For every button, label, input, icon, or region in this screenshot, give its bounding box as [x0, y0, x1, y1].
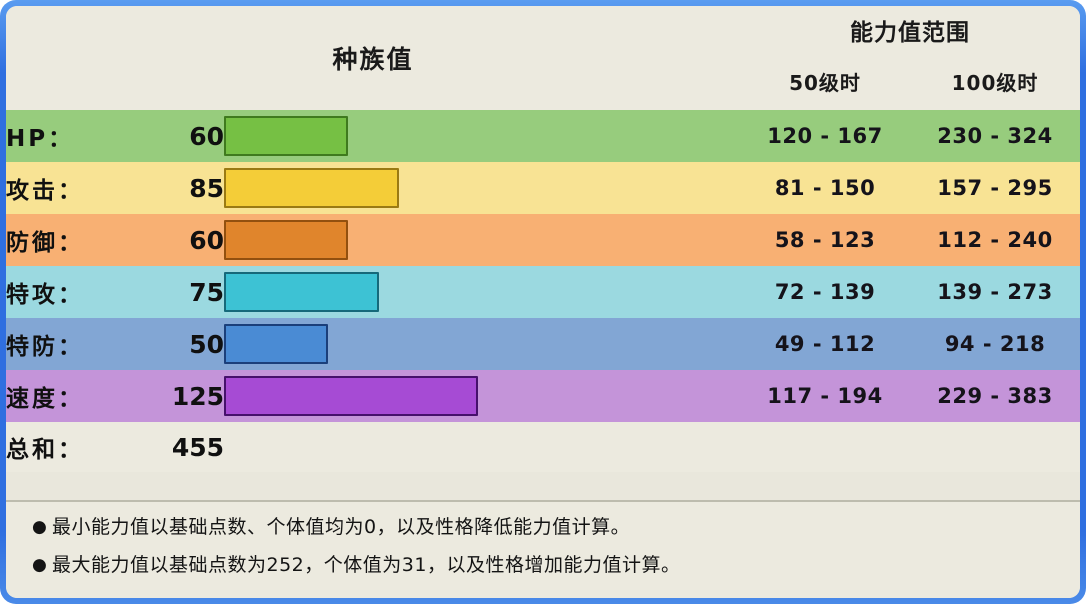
stat-range-lv50: 58 - 123 — [740, 214, 910, 266]
stat-bar — [224, 220, 348, 260]
stat-value: 60 — [126, 110, 224, 162]
stat-range-lv100: 139 - 273 — [910, 266, 1080, 318]
stat-bar-cell — [224, 162, 740, 214]
stat-bar-cell — [224, 110, 740, 162]
table-row: 速度：125117 - 194229 - 383 — [6, 370, 1080, 422]
stat-label: 特防： — [6, 318, 126, 370]
stat-range-lv50: 120 - 167 — [740, 110, 910, 162]
stat-bar-cell — [224, 266, 740, 318]
stat-bar — [224, 376, 478, 416]
stat-range-lv50: 117 - 194 — [740, 370, 910, 422]
header-base-stats-title: 种族值 — [6, 6, 740, 110]
base-stats-table: 种族值 能力值范围 50级时 100级时 HP：60120 - 167230 -… — [6, 6, 1080, 472]
stat-label: 防御： — [6, 214, 126, 266]
total-row: 总和： 455 — [6, 422, 1080, 472]
stat-value: 125 — [126, 370, 224, 422]
stat-value: 85 — [126, 162, 224, 214]
stat-label: 攻击： — [6, 162, 126, 214]
total-label: 总和： — [6, 422, 126, 472]
stat-bar — [224, 168, 399, 208]
stat-range-lv100: 157 - 295 — [910, 162, 1080, 214]
table-body: HP：60120 - 167230 - 324攻击：8581 - 150157 … — [6, 110, 1080, 422]
stat-value: 75 — [126, 266, 224, 318]
table-row: HP：60120 - 167230 - 324 — [6, 110, 1080, 162]
table-header: 种族值 能力值范围 50级时 100级时 — [6, 6, 1080, 110]
stat-label: HP： — [6, 110, 126, 162]
table-row: 特攻：7572 - 139139 - 273 — [6, 266, 1080, 318]
stat-range-lv100: 230 - 324 — [910, 110, 1080, 162]
stat-label: 速度： — [6, 370, 126, 422]
notes-section: ● 最小能力值以基础点数、个体值均为0，以及性格降低能力值计算。 ● 最大能力值… — [6, 500, 1080, 598]
table-row: 特防：5049 - 11294 - 218 — [6, 318, 1080, 370]
stat-value: 60 — [126, 214, 224, 266]
stat-bar-cell — [224, 370, 740, 422]
table-row: 防御：6058 - 123112 - 240 — [6, 214, 1080, 266]
table-footer: 总和： 455 — [6, 422, 1080, 472]
bullet-icon: ● — [32, 552, 52, 578]
bullet-icon: ● — [32, 514, 52, 540]
header-level-50: 50级时 — [740, 54, 910, 110]
total-value: 455 — [126, 422, 224, 472]
panel: 种族值 能力值范围 50级时 100级时 HP：60120 - 167230 -… — [6, 6, 1080, 598]
stat-bar — [224, 272, 379, 312]
table-row: 攻击：8581 - 150157 - 295 — [6, 162, 1080, 214]
header-level-100: 100级时 — [910, 54, 1080, 110]
stat-value: 50 — [126, 318, 224, 370]
note-text: 最大能力值以基础点数为252，个体值为31，以及性格增加能力值计算。 — [52, 552, 680, 578]
outer-frame: 种族值 能力值范围 50级时 100级时 HP：60120 - 167230 -… — [0, 0, 1086, 604]
stat-bar-cell — [224, 318, 740, 370]
stat-range-lv100: 112 - 240 — [910, 214, 1080, 266]
stat-range-lv50: 49 - 112 — [740, 318, 910, 370]
note-item: ● 最小能力值以基础点数、个体值均为0，以及性格降低能力值计算。 — [32, 514, 1080, 540]
stat-bar — [224, 324, 328, 364]
stat-bar — [224, 116, 348, 156]
note-item: ● 最大能力值以基础点数为252，个体值为31，以及性格增加能力值计算。 — [32, 552, 1080, 578]
header-range-title: 能力值范围 — [740, 6, 1080, 54]
stat-bar-cell — [224, 214, 740, 266]
stat-label: 特攻： — [6, 266, 126, 318]
stat-range-lv100: 229 - 383 — [910, 370, 1080, 422]
stat-range-lv50: 81 - 150 — [740, 162, 910, 214]
note-text: 最小能力值以基础点数、个体值均为0，以及性格降低能力值计算。 — [52, 514, 630, 540]
stat-range-lv50: 72 - 139 — [740, 266, 910, 318]
total-empty-cell — [224, 422, 1080, 472]
stat-range-lv100: 94 - 218 — [910, 318, 1080, 370]
